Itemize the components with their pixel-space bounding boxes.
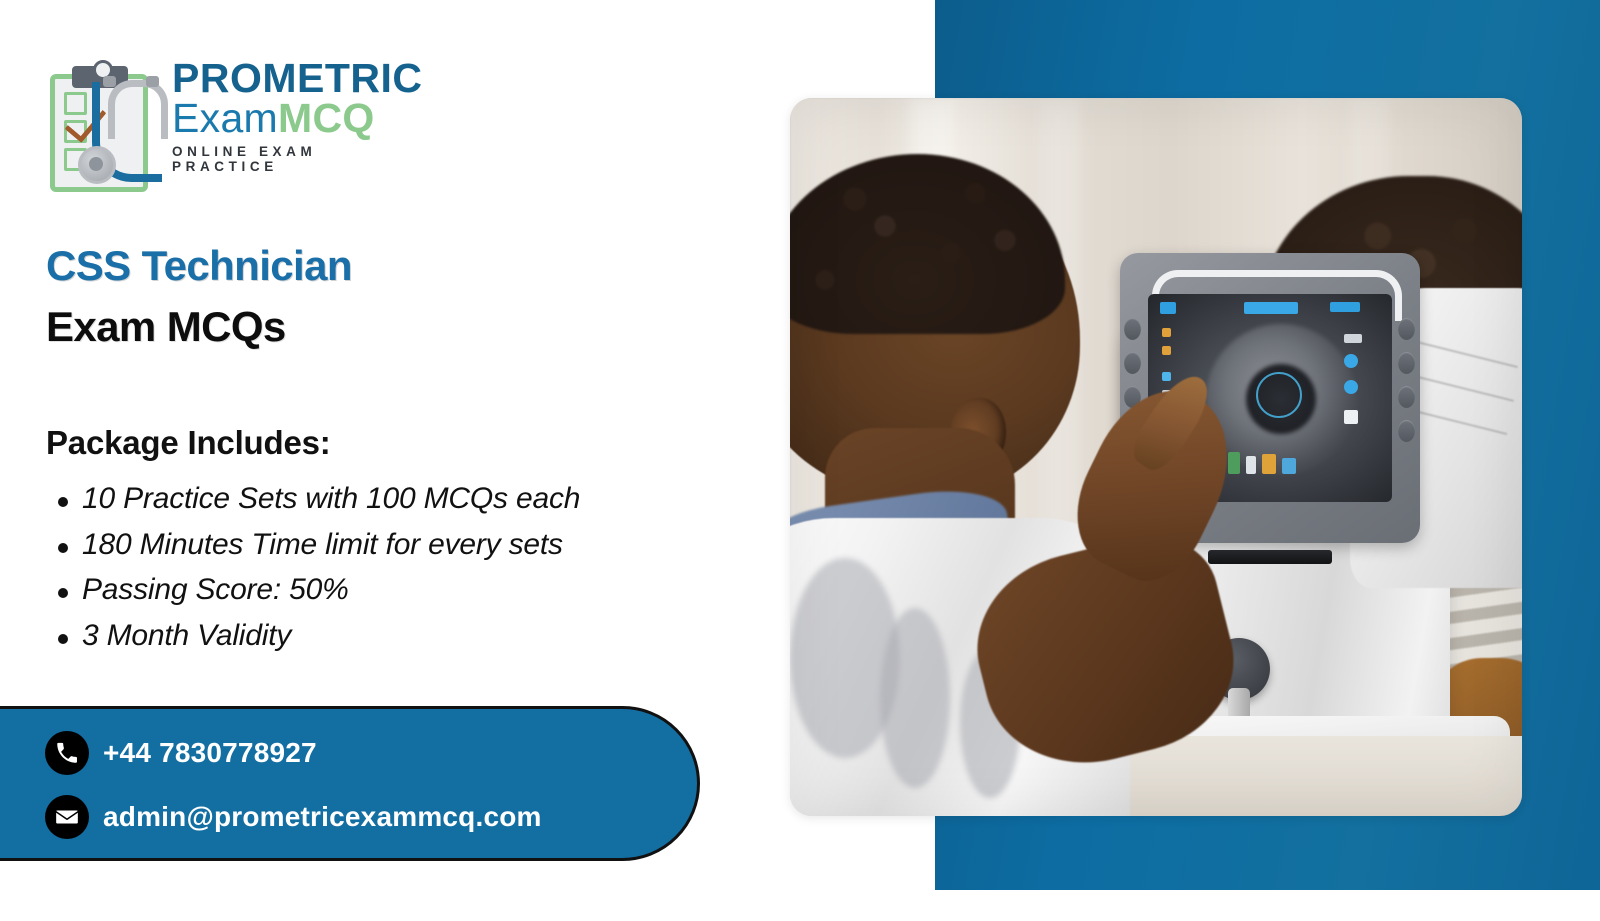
hero-photo-card [790, 98, 1522, 816]
headline-line-1: CSS Technician [46, 243, 786, 288]
list-item: 180 Minutes Time limit for every sets [46, 522, 806, 568]
clipboard-stethoscope-icon [46, 60, 164, 190]
package-title: Package Includes: [46, 424, 806, 462]
poster-canvas: PROMETRIC ExamMCQ ONLINE EXAM PRACTICE C… [0, 0, 1600, 921]
package-block: Package Includes: 10 Practice Sets with … [46, 424, 806, 658]
contact-phone-row[interactable]: +44 7830778927 [45, 731, 317, 775]
package-feature-list: 10 Practice Sets with 100 MCQs each 180 … [46, 476, 806, 658]
logo-word-exam: Exam [172, 95, 278, 141]
contact-email-text: admin@prometricexammcq.com [103, 801, 542, 833]
list-item: 3 Month Validity [46, 613, 806, 659]
headline-line-2: Exam MCQs [46, 304, 786, 349]
list-item: 10 Practice Sets with 100 MCQs each [46, 476, 806, 522]
logo-tagline: ONLINE EXAM PRACTICE [172, 144, 422, 174]
logo-line-1: PROMETRIC [172, 60, 422, 98]
logo-line-2: ExamMCQ [172, 98, 422, 139]
list-item: Passing Score: 50% [46, 567, 806, 613]
logo-word-mcq: MCQ [278, 95, 375, 141]
brand-logo-text: PROMETRIC ExamMCQ ONLINE EXAM PRACTICE [172, 60, 422, 174]
contact-bar: +44 7830778927 admin@prometricexammcq.co… [0, 706, 700, 861]
brand-logo[interactable]: PROMETRIC ExamMCQ ONLINE EXAM PRACTICE [46, 54, 416, 194]
headline-block: CSS Technician Exam MCQs [46, 243, 786, 350]
hero-photo [790, 98, 1522, 816]
photo-vignette [790, 98, 1522, 816]
contact-email-row[interactable]: admin@prometricexammcq.com [45, 795, 542, 839]
envelope-icon [45, 795, 89, 839]
contact-phone-text: +44 7830778927 [103, 737, 317, 769]
phone-icon [45, 731, 89, 775]
